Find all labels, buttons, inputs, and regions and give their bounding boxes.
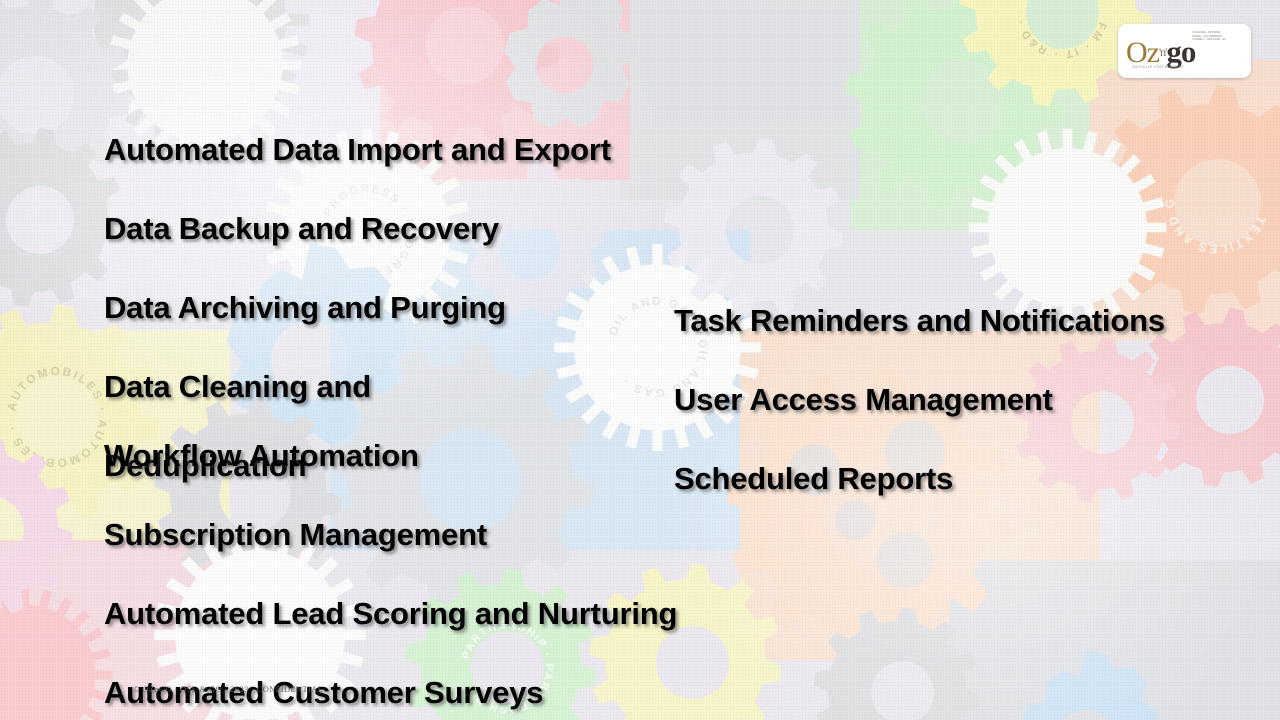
feature-item: Data Backup and Recovery — [104, 209, 724, 249]
workflow-feature-list: Workflow Automation Subscription Managem… — [104, 396, 794, 720]
logo-wordmark: Oz'n'go — [1126, 38, 1195, 67]
feature-item: Data Archiving and Purging — [104, 288, 724, 328]
oznbgo-logo[interactable]: ORGANIZE - OPTIMIZE SHARE - COLLABORATE … — [1118, 24, 1251, 78]
feature-item: Task Reminders and Notifications — [674, 301, 1259, 341]
logo-tagline-top: ORGANIZE - OPTIMIZE SHARE - COLLABORATE … — [1192, 31, 1246, 42]
slide-canvas: PROGRESS · PROGRESS · AUTOMOBILES · AUTO… — [0, 0, 1280, 720]
feature-item: Automated Lead Scoring and Nurturing — [104, 594, 794, 634]
logo-inner: ORGANIZE - OPTIMIZE SHARE - COLLABORATE … — [1118, 24, 1251, 78]
feature-item: Subscription Management — [104, 515, 794, 555]
logo-go-text: go — [1166, 34, 1195, 69]
feature-item: Workflow Automation — [104, 436, 794, 476]
logo-tagline-bottom: DIGITALIZE YOUR BUSINESS — [1132, 65, 1184, 69]
footer-copyright: © OZnGO - OSE & GO - 2023 - CONFIDENTIAL — [133, 684, 323, 694]
feature-item: Automated Data Import and Export — [104, 130, 724, 170]
